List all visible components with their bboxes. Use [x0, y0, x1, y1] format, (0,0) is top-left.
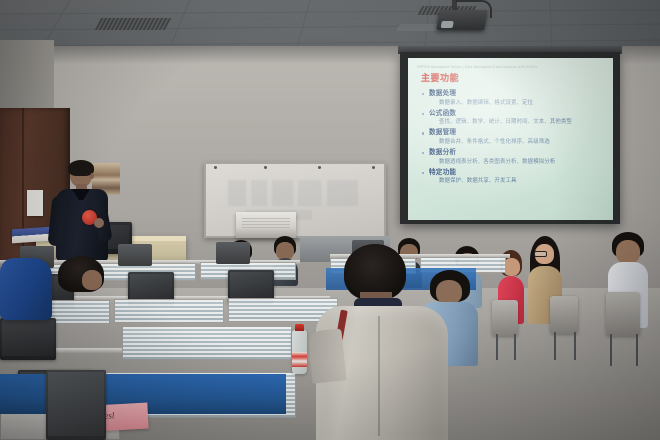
ceiling: [0, 0, 660, 52]
monitor[interactable]: [46, 370, 106, 440]
attendee-shoulder: [307, 328, 346, 383]
slide-section: 数据分析 数据透视表分析、各类图表分析、数据模拟分析: [422, 148, 606, 166]
printer: [236, 212, 296, 238]
jacket-seam: [378, 316, 380, 436]
foreground-man-gray-jacket: [316, 244, 448, 440]
slide-section: 数据处理 数据录入、数据编辑、格式设置、定位: [422, 89, 606, 107]
door-notice-paper: [27, 190, 43, 216]
attendee-dark-hair-front: [58, 256, 104, 304]
bottle-label: [292, 352, 307, 367]
whiteboard-clip: [372, 166, 375, 169]
whiteboard-clip: [264, 166, 267, 169]
classroom-photo: OFFICE Automation Series | Data Manageme…: [0, 0, 660, 440]
slide-section-detail: 数据透视表分析、各类图表分析、数据模拟分析: [422, 158, 606, 166]
slide-section: 数据管理 数据合并、条件格式、个性化排序、高级筛选: [422, 128, 606, 146]
slide-body: 数据处理 数据录入、数据编辑、格式设置、定位 公式函数 查找、逻辑、数学、统计、…: [422, 89, 606, 185]
slide-header: OFFICE Automation Series | Data Manageme…: [417, 64, 606, 69]
printer-paper-tray: [242, 218, 290, 230]
monitor[interactable]: [0, 318, 56, 360]
monitor-screen: [48, 372, 104, 436]
slide-section: 特定功能 数据保护、数据共享、开发工具: [422, 168, 606, 186]
monitor-screen: [2, 320, 54, 356]
water-bottle[interactable]: [292, 330, 307, 374]
monitor-rear: [118, 244, 152, 266]
slide-section-detail: 数据合并、条件格式、个性化排序、高级筛选: [422, 138, 606, 146]
slide-content: OFFICE Automation Series | Data Manageme…: [408, 58, 613, 220]
whiteboard-clip: [318, 166, 321, 169]
slide-section-heading: 数据管理: [422, 128, 606, 138]
projector-lens: [441, 21, 454, 28]
cubicle-glass-panel: [114, 299, 224, 323]
monitor-screen: [130, 274, 172, 302]
monitor-rear: [216, 242, 250, 264]
slide-section-heading: 数据处理: [422, 89, 606, 99]
monitor-screen: [230, 272, 272, 300]
slide-section-detail: 数据保护、数据共享、开发工具: [422, 177, 606, 185]
ceiling-vent-icon: [95, 18, 171, 30]
slide-section-detail: 数据录入、数据编辑、格式设置、定位: [422, 99, 606, 107]
slide-title: 主要功能: [421, 71, 606, 84]
attendee-head: [82, 270, 102, 290]
projector-icon: [436, 10, 488, 30]
stack-of-papers: [12, 227, 52, 244]
slide-section: 公式函数 查找、逻辑、数学、统计、日期时间、文本、其他类型: [422, 109, 606, 127]
presenter-ear: [90, 173, 94, 179]
whiteboard-clip: [214, 166, 217, 169]
presenter-hand: [94, 218, 104, 228]
slide-section-detail: 查找、逻辑、数学、统计、日期时间、文本、其他类型: [422, 118, 606, 126]
slide-section-heading: 公式函数: [422, 109, 606, 119]
whiteboard-erased-writing: [228, 180, 358, 206]
cubicle-glass-panel: [122, 326, 292, 360]
projection-screen: OFFICE Automation Series | Data Manageme…: [400, 52, 620, 224]
bottle-cap: [295, 324, 304, 331]
slide-section-heading: 特定功能: [422, 168, 606, 178]
slide-section-heading: 数据分析: [422, 148, 606, 158]
screen-surface: OFFICE Automation Series | Data Manageme…: [408, 58, 613, 220]
blue-backpack: [0, 258, 52, 320]
